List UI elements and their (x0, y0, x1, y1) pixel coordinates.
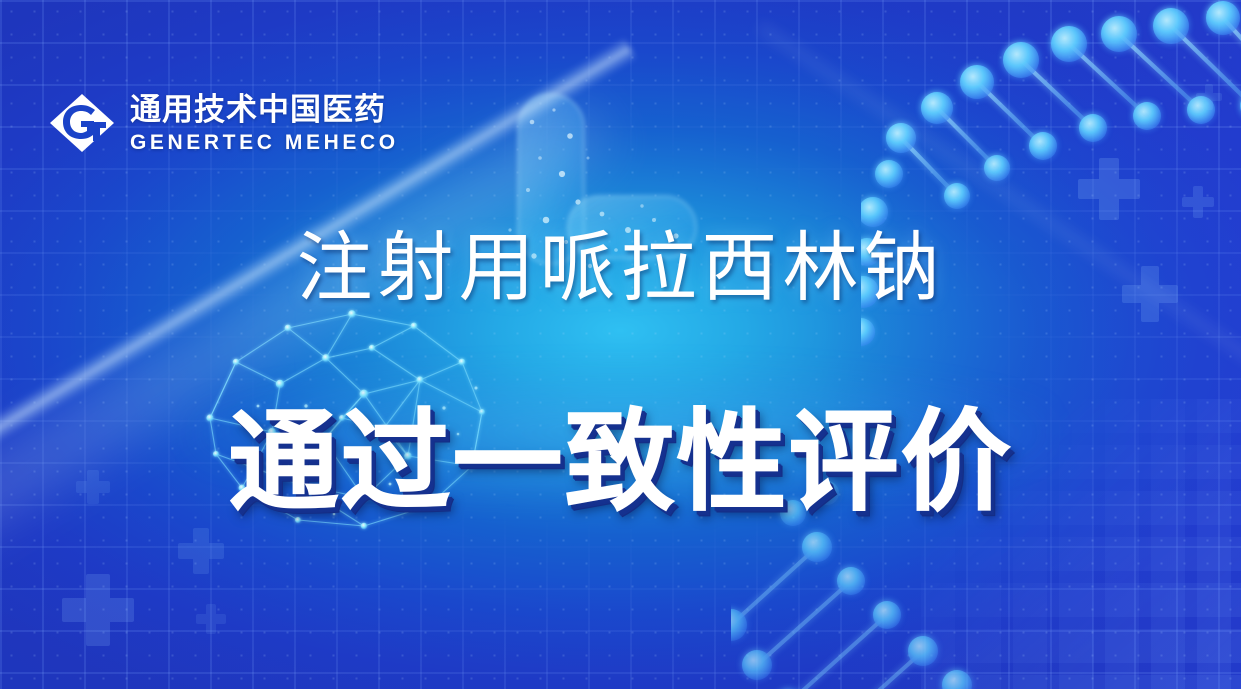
brand-logo[interactable]: 通用技术中国医药 GENERTEC MEHECO (48, 92, 399, 154)
headline: 通过一致性评价 (0, 372, 1241, 532)
brand-logo-text: 通用技术中国医药 GENERTEC MEHECO (130, 94, 399, 153)
promo-banner: 通用技术中国医药 GENERTEC MEHECO 注射用哌拉西林钠 通过一致性评… (0, 0, 1241, 689)
brand-name-cn: 通用技术中国医药 (130, 94, 399, 125)
brand-name-en: GENERTEC MEHECO (130, 132, 399, 153)
genertec-diamond-monogram-icon (48, 92, 116, 154)
product-title: 注射用哌拉西林钠 (0, 206, 1241, 316)
